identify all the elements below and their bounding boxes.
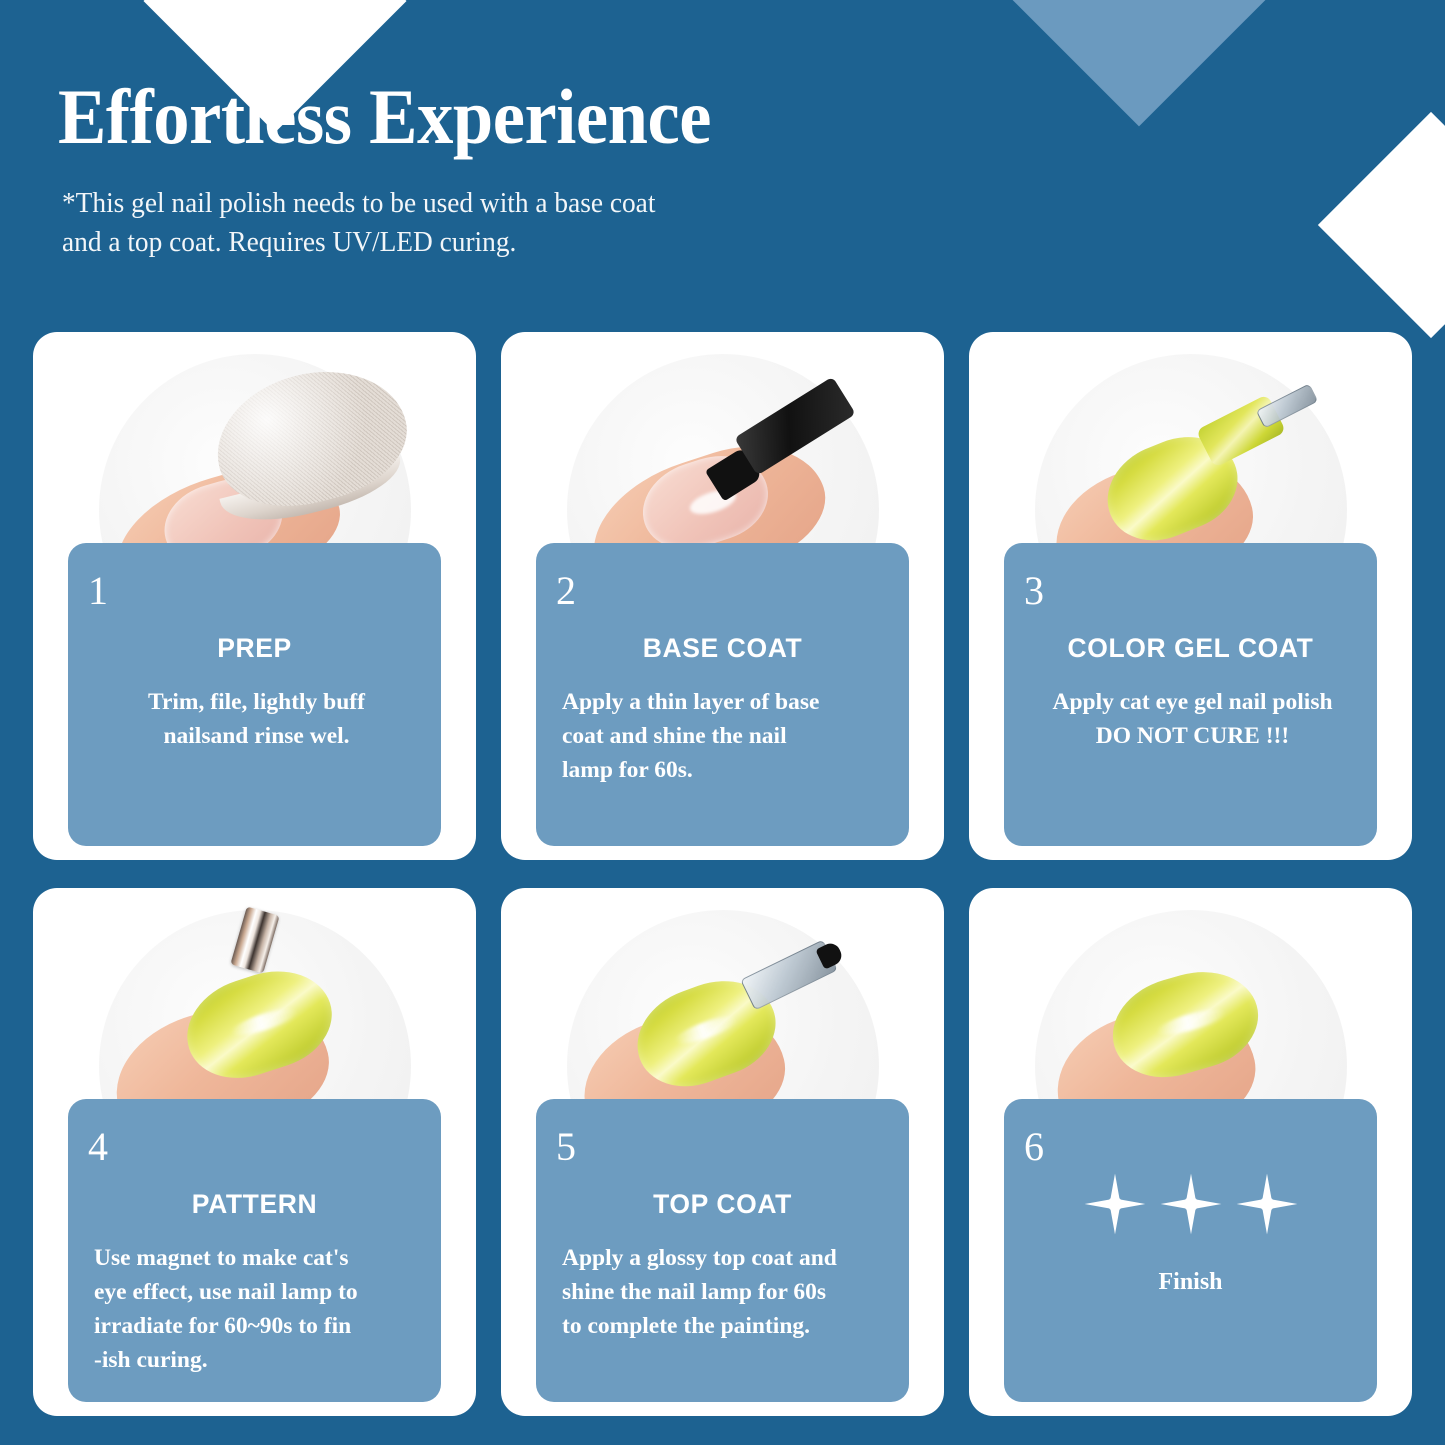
sparkle-row: [1004, 1171, 1377, 1237]
step-title: TOP COAT: [562, 1189, 883, 1220]
step-1-panel: 1 PREP Trim, file, lightly buff nailsand…: [68, 543, 441, 846]
step-card-3[interactable]: 3 COLOR GEL COAT Apply cat eye gel nail …: [969, 332, 1412, 860]
step-3-panel: 3 COLOR GEL COAT Apply cat eye gel nail …: [1004, 543, 1377, 846]
step-description: Apply a glossy top coat and shine the na…: [562, 1241, 887, 1343]
step-number: 4: [88, 1127, 108, 1167]
steps-grid: 1 PREP Trim, file, lightly buff nailsand…: [33, 332, 1412, 1416]
sparkle-icon: [1078, 1171, 1152, 1237]
page-title: Effortless Experience: [58, 78, 1081, 156]
step-number: 1: [88, 571, 108, 611]
step-description: Trim, file, lightly buff nailsand rinse …: [94, 685, 419, 753]
step-2-panel: 2 BASE COAT Apply a thin layer of base c…: [536, 543, 909, 846]
step-card-1[interactable]: 1 PREP Trim, file, lightly buff nailsand…: [33, 332, 476, 860]
step-number: 3: [1024, 571, 1044, 611]
step-number: 6: [1024, 1127, 1044, 1167]
header: Effortless Experience *This gel nail pol…: [58, 78, 1158, 263]
step-card-2[interactable]: 2 BASE COAT Apply a thin layer of base c…: [501, 332, 944, 860]
step-card-5[interactable]: 5 TOP COAT Apply a glossy top coat and s…: [501, 888, 944, 1416]
white-diamond-right-icon: [1318, 112, 1445, 338]
page-subtitle: *This gel nail polish needs to be used w…: [62, 184, 1114, 263]
sparkle-icon: [1230, 1171, 1304, 1237]
step-title: PATTERN: [94, 1189, 415, 1220]
step-5-panel: 5 TOP COAT Apply a glossy top coat and s…: [536, 1099, 909, 1402]
sparkle-icon: [1154, 1171, 1228, 1237]
step-description: Apply a thin layer of base coat and shin…: [562, 685, 887, 787]
step-4-panel: 4 PATTERN Use magnet to make cat's eye e…: [68, 1099, 441, 1402]
step-title: PREP: [94, 633, 415, 664]
step-number: 2: [556, 571, 576, 611]
step-description: Apply cat eye gel nail polish DO NOT CUR…: [1030, 685, 1355, 753]
step-number: 5: [556, 1127, 576, 1167]
step-card-6[interactable]: 6 Finish: [969, 888, 1412, 1416]
step-description: Use magnet to make cat's eye effect, use…: [94, 1241, 419, 1377]
finish-label: Finish: [1004, 1269, 1377, 1296]
step-title: BASE COAT: [562, 633, 883, 664]
step-6-panel: 6 Finish: [1004, 1099, 1377, 1402]
step-title: COLOR GEL COAT: [1030, 633, 1351, 664]
magnet-stick-top-icon: [230, 906, 279, 973]
step-card-4[interactable]: 4 PATTERN Use magnet to make cat's eye e…: [33, 888, 476, 1416]
